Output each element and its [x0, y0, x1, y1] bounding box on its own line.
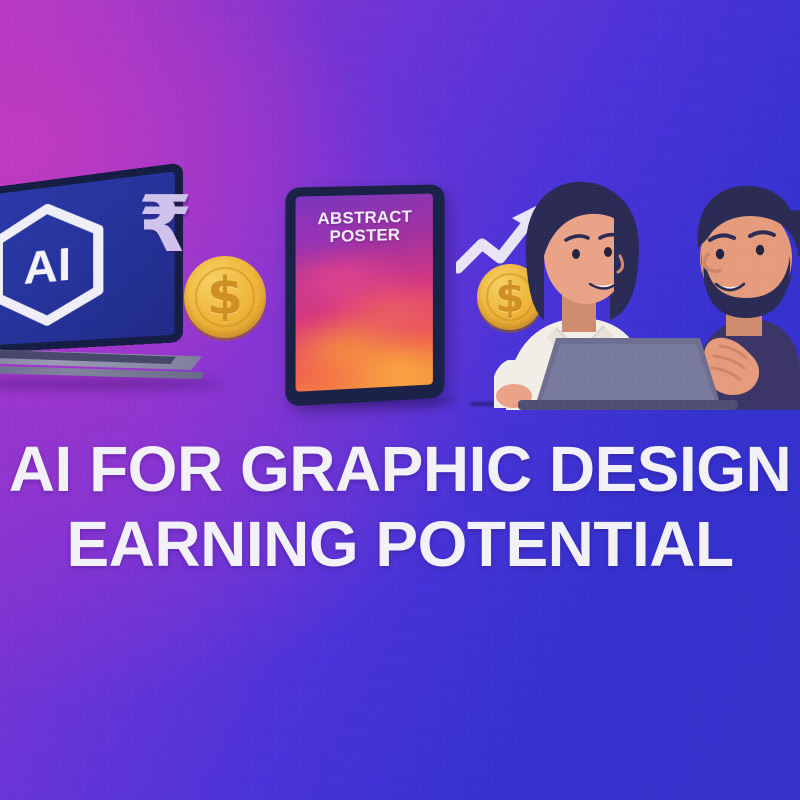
- coin-dollar-glyph: $: [207, 267, 243, 327]
- title-line-2: EARNING POTENTIAL: [0, 507, 800, 582]
- tablet-frame: ABSTRACT POSTER: [285, 184, 444, 406]
- ai-hexagon-logo-icon: AI: [0, 195, 110, 331]
- title-line-1: AI FOR GRAPHIC DESIGN: [0, 432, 800, 507]
- ai-logo-text: AI: [24, 239, 72, 295]
- promo-banner: AI ₹ $: [0, 0, 800, 800]
- hero-illustration: AI ₹ $: [0, 0, 800, 430]
- rupee-icon: ₹: [138, 186, 192, 264]
- dollar-coin-icon: $: [184, 256, 266, 338]
- abstract-poster-artwork: ABSTRACT POSTER: [296, 194, 433, 392]
- page-title: AI FOR GRAPHIC DESIGN EARNING POTENTIAL: [0, 432, 800, 582]
- coin-disc: $: [184, 256, 266, 338]
- poster-title-line-2: POSTER: [296, 226, 433, 248]
- two-designers-illustration: [494, 160, 800, 410]
- laptop-base: [0, 348, 212, 390]
- poster-title: ABSTRACT POSTER: [296, 207, 433, 248]
- tablet-icon: ABSTRACT POSTER: [286, 186, 446, 402]
